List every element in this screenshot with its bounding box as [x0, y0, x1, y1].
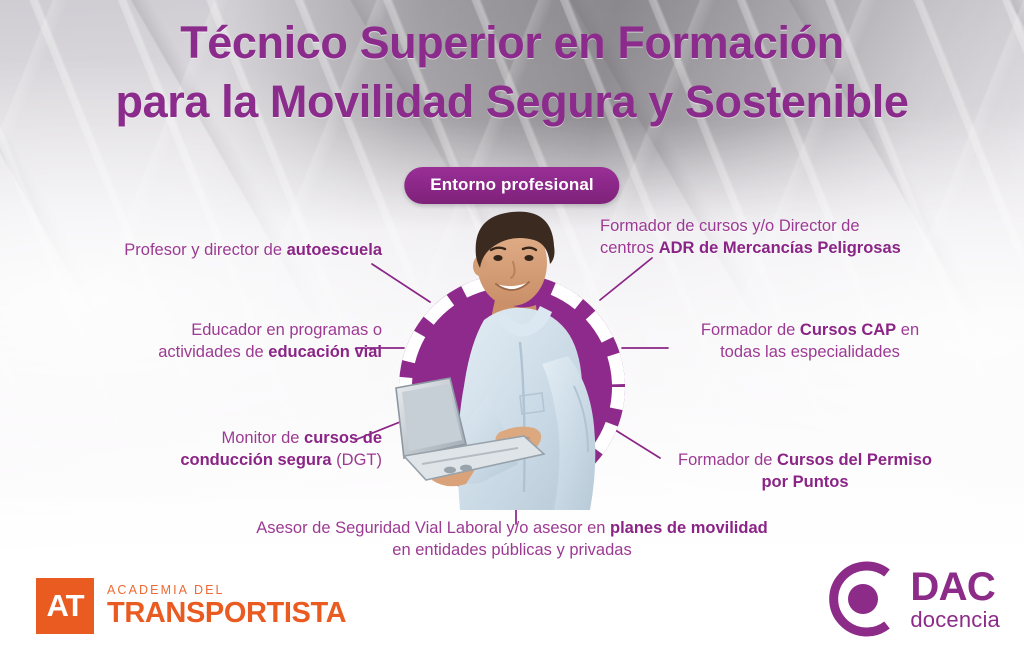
label-autoescuela: Profesor y director de autoescuela [52, 240, 382, 262]
at-wordmark: ACADEMIA DEL TRANSPORTISTA [107, 584, 346, 629]
label-line: Formador de Cursos del Permiso [630, 450, 980, 472]
dac-wordmark-line1: DAC [910, 567, 1000, 607]
entorno-profesional-badge: Entorno profesional [404, 167, 619, 204]
page-title: Técnico Superior en Formación para la Mo… [0, 14, 1024, 131]
label-line: Profesor y director de autoescuela [52, 240, 382, 262]
label-permiso-por-puntos: Formador de Cursos del Permiso por Punto… [630, 450, 980, 494]
label-line: Asesor de Seguridad Vial Laboral y/o ase… [192, 518, 832, 540]
infographic-poster: Técnico Superior en Formación para la Mo… [0, 0, 1024, 655]
label-line: conducción segura (DGT) [82, 450, 382, 472]
label-educacion-vial: Educador en programas o actividades de e… [62, 320, 382, 364]
label-line: Educador en programas o [62, 320, 382, 342]
label-line: Formador de Cursos CAP en [660, 320, 960, 342]
label-line: por Puntos [630, 472, 980, 494]
at-wordmark-line2: TRANSPORTISTA [107, 599, 346, 628]
dac-wordmark: DAC docencia [910, 567, 1000, 631]
label-line: actividades de educación vial [62, 342, 382, 364]
at-monogram: AT [36, 578, 94, 634]
title-line-1: Técnico Superior en Formación [0, 14, 1024, 73]
label-monitor-conduccion-segura: Monitor de cursos de conducción segura (… [82, 428, 382, 472]
dac-docencia-logo: DAC docencia [820, 556, 1000, 642]
label-cursos-cap: Formador de Cursos CAP en todas las espe… [660, 320, 960, 364]
gear-circle [393, 268, 631, 506]
dac-wordmark-line2: docencia [910, 609, 1000, 631]
at-wordmark-line1: ACADEMIA DEL [107, 584, 346, 597]
label-centros-adr: Formador de cursos y/o Director de centr… [600, 216, 980, 260]
title-line-2: para la Movilidad Segura y Sostenible [0, 73, 1024, 132]
dac-ring-icon [820, 556, 906, 642]
label-asesor-seguridad-vial: Asesor de Seguridad Vial Laboral y/o ase… [192, 518, 832, 562]
label-line: Formador de cursos y/o Director de [600, 216, 980, 238]
label-line: Monitor de cursos de [82, 428, 382, 450]
label-line: todas las especialidades [660, 342, 960, 364]
label-line: centros ADR de Mercancías Peligrosas [600, 238, 980, 260]
academia-transportista-logo: AT ACADEMIA DEL TRANSPORTISTA [36, 578, 346, 634]
label-line: en entidades públicas y privadas [192, 540, 832, 562]
